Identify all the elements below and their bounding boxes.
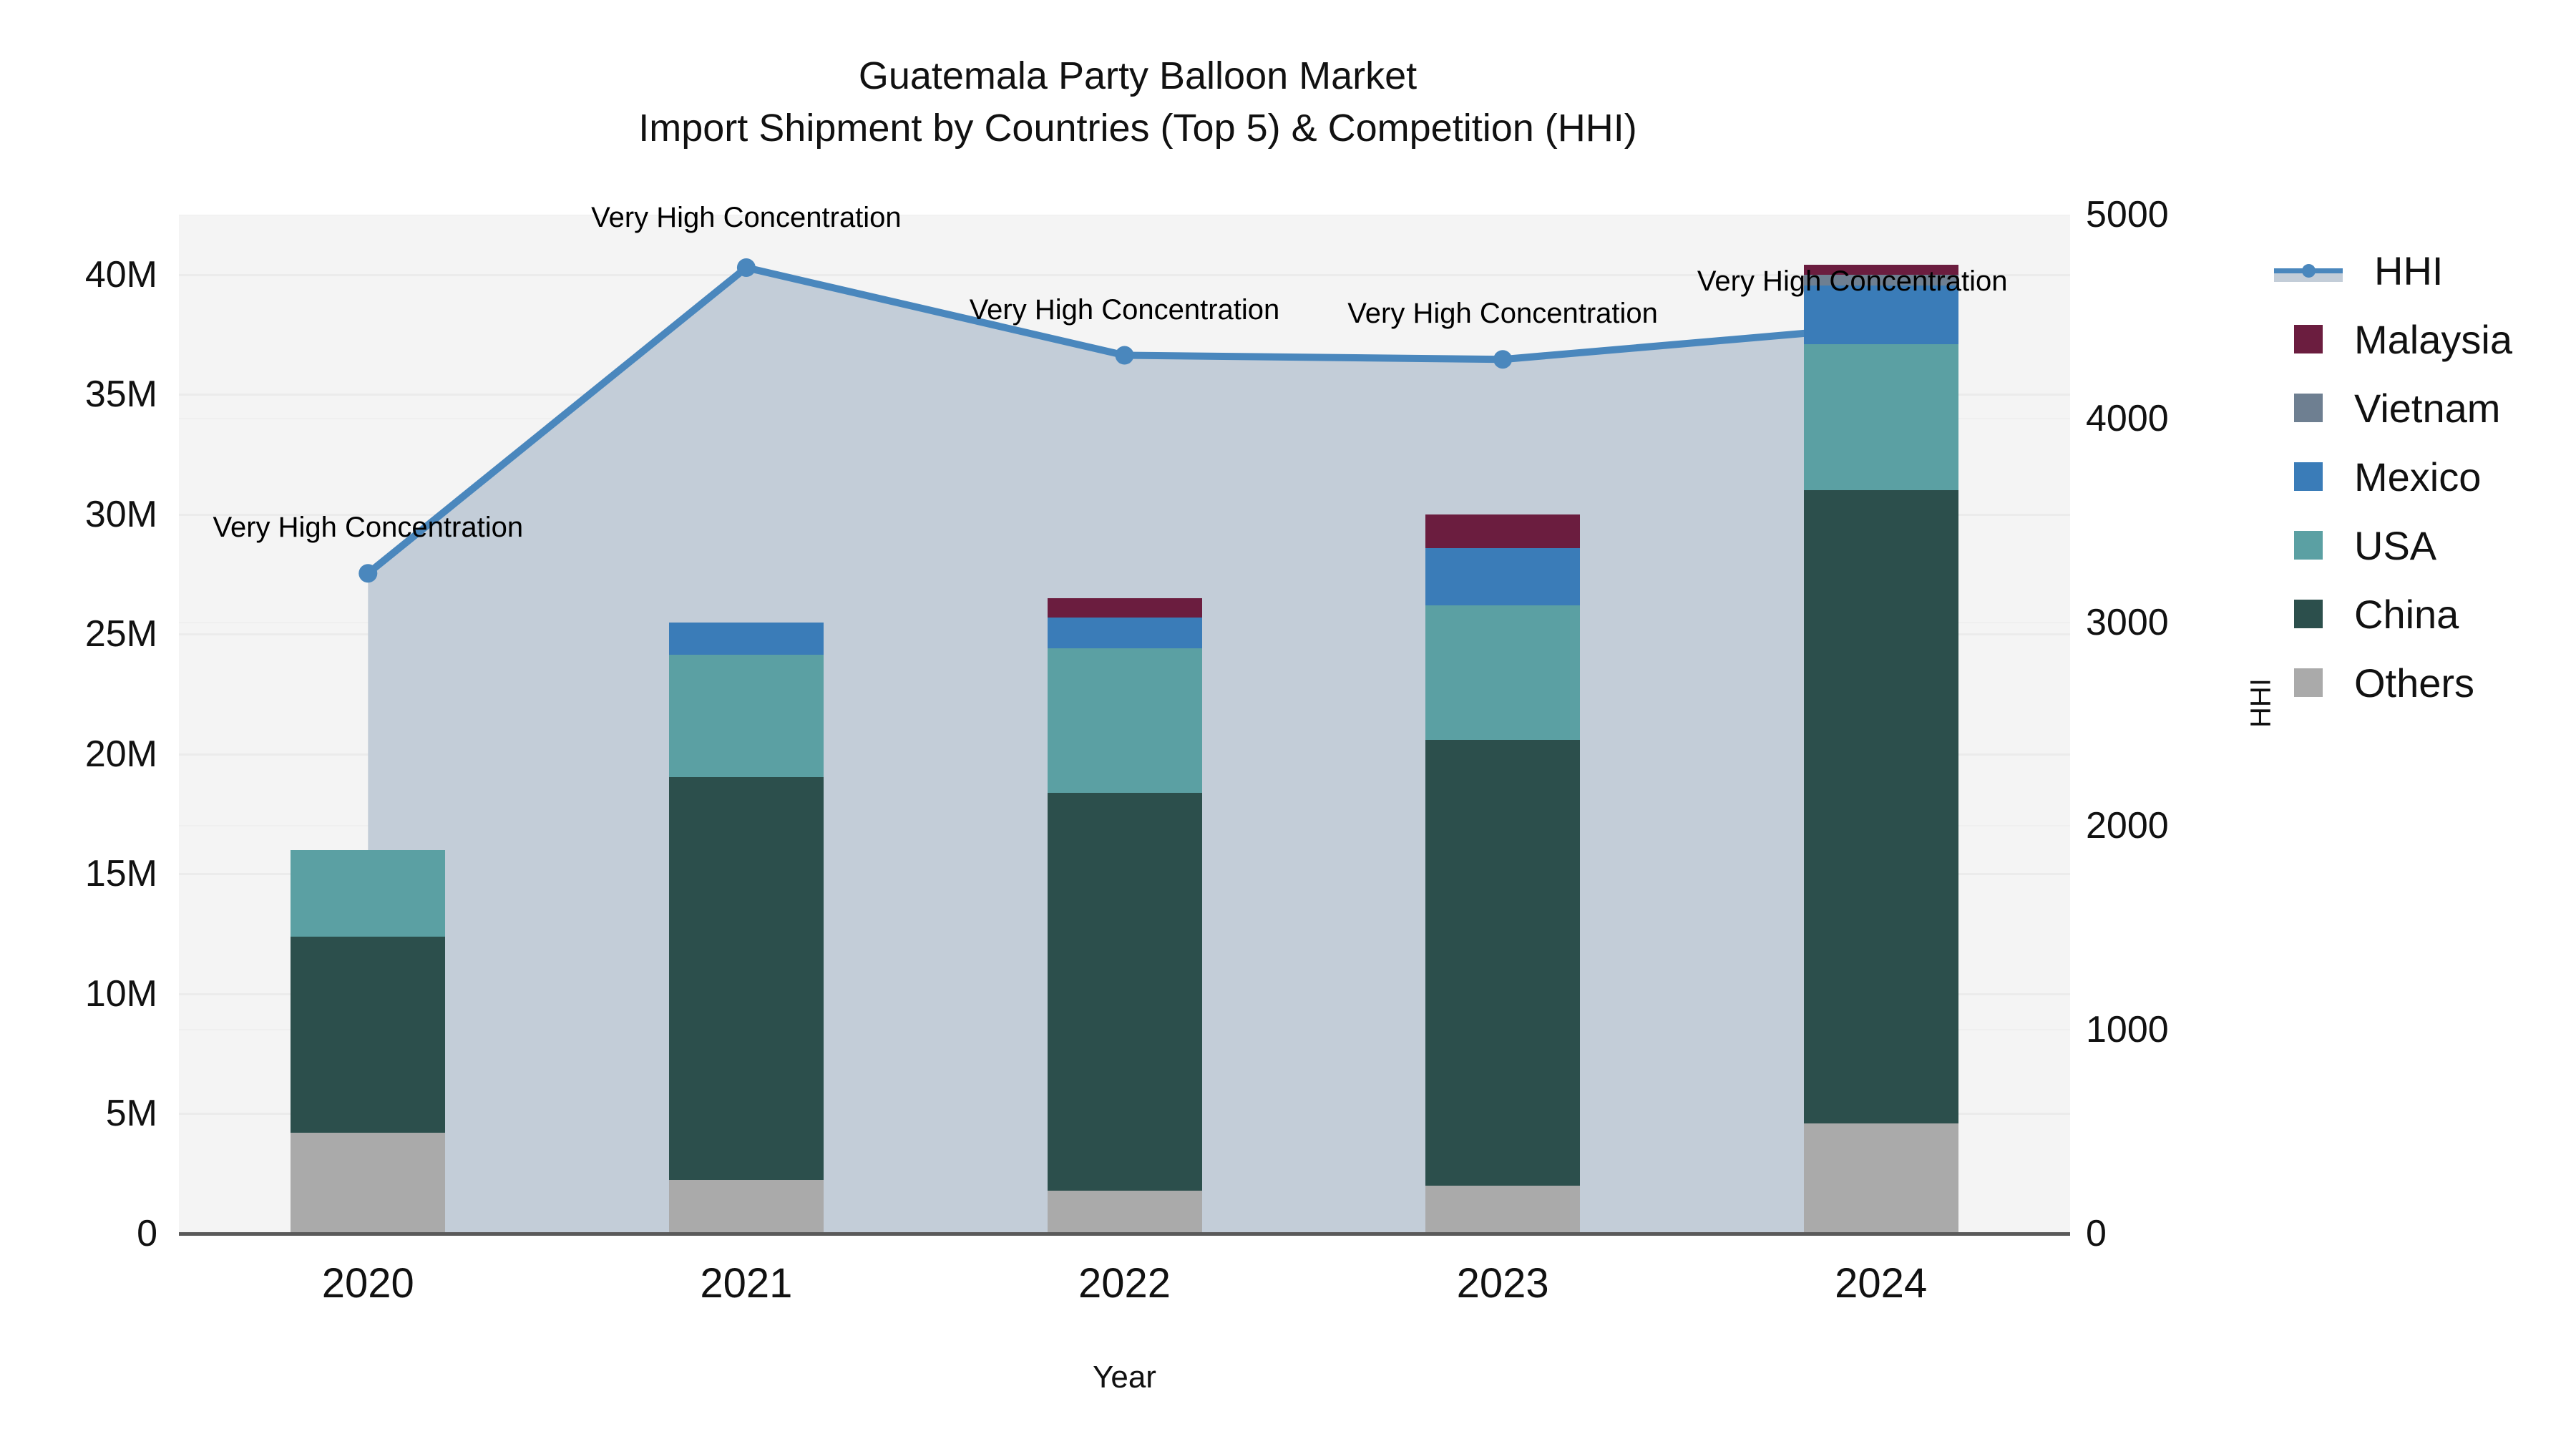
- x-axis-line: [179, 1232, 2070, 1236]
- bar-segment[interactable]: [291, 1133, 445, 1234]
- y-axis-tick-left: 5M: [14, 1092, 157, 1135]
- y-axis-tick-left: 25M: [14, 613, 157, 655]
- bar-segment[interactable]: [1048, 648, 1202, 792]
- legend-item[interactable]: Mexico: [2254, 442, 2512, 511]
- legend-item[interactable]: Others: [2254, 648, 2512, 717]
- x-axis-tick: 2022: [975, 1259, 1275, 1307]
- bar-segment[interactable]: [669, 623, 824, 655]
- y-axis-tick-right: 5000: [2086, 193, 2272, 236]
- bar-stack[interactable]: [1804, 215, 1958, 1234]
- bar-segment[interactable]: [1048, 1191, 1202, 1234]
- x-axis-tick: 2021: [596, 1259, 897, 1307]
- y-axis-tick-right: 1000: [2086, 1008, 2272, 1051]
- legend-color-swatch: [2294, 325, 2323, 353]
- chart-title-block: Guatemala Party Balloon Market Import Sh…: [0, 50, 2275, 155]
- legend-color-swatch: [2294, 462, 2323, 491]
- bar-stack[interactable]: [291, 215, 445, 1234]
- bar-segment[interactable]: [1048, 598, 1202, 618]
- legend-color-swatch: [2294, 668, 2323, 697]
- bar-segment[interactable]: [1804, 490, 1958, 1123]
- bar-segment[interactable]: [669, 655, 824, 777]
- bar-segment[interactable]: [1425, 548, 1580, 605]
- bar-segment[interactable]: [1425, 514, 1580, 548]
- y-axis-tick-right: 3000: [2086, 601, 2272, 644]
- legend-item-label: USA: [2354, 522, 2436, 569]
- x-axis-tick: 2023: [1352, 1259, 1653, 1307]
- legend: HHIMalaysiaVietnamMexicoUSAChinaOthers: [2254, 236, 2512, 717]
- y-axis-tick-right: 2000: [2086, 804, 2272, 847]
- bar-segment[interactable]: [669, 1180, 824, 1234]
- y-axis-tick-left: 0: [14, 1212, 157, 1255]
- legend-color-swatch: [2294, 600, 2323, 628]
- legend-item[interactable]: Vietnam: [2254, 374, 2512, 442]
- bar-segment[interactable]: [1425, 740, 1580, 1186]
- bar-segment[interactable]: [291, 850, 445, 937]
- bar-segment[interactable]: [291, 937, 445, 1133]
- plot-inner: [179, 215, 2070, 1234]
- legend-line-icon: [2274, 256, 2343, 285]
- bar-stack[interactable]: [1048, 215, 1202, 1234]
- y-axis-tick-left: 35M: [14, 373, 157, 416]
- bar-segment[interactable]: [1048, 618, 1202, 649]
- bar-segment[interactable]: [1804, 1123, 1958, 1234]
- bar-segment[interactable]: [1425, 1186, 1580, 1234]
- legend-marker-dot: [2302, 264, 2316, 278]
- bar-segment[interactable]: [1804, 344, 1958, 490]
- annotation-label: Very High Concentration: [591, 202, 902, 234]
- legend-item-label: Malaysia: [2354, 316, 2512, 363]
- plot-area: [179, 215, 2070, 1234]
- x-axis-tick: 2024: [1731, 1259, 2031, 1307]
- x-axis-tick: 2020: [218, 1259, 518, 1307]
- legend-item[interactable]: HHI: [2254, 236, 2512, 305]
- legend-item-label: Others: [2354, 660, 2474, 706]
- annotation-label: Very High Concentration: [970, 294, 1280, 326]
- annotation-label: Very High Concentration: [1697, 265, 2008, 298]
- legend-item-label: China: [2354, 591, 2459, 638]
- y-axis-tick-left: 40M: [14, 253, 157, 296]
- bar-segment[interactable]: [1425, 605, 1580, 740]
- y-axis-tick-left: 10M: [14, 972, 157, 1015]
- y-axis-tick-left: 15M: [14, 852, 157, 895]
- bar-segment[interactable]: [1048, 793, 1202, 1191]
- legend-color-swatch: [2294, 531, 2323, 560]
- legend-item-label: Mexico: [2354, 454, 2481, 500]
- legend-item[interactable]: USA: [2254, 511, 2512, 580]
- y-axis-tick-right: 0: [2086, 1212, 2272, 1255]
- legend-item[interactable]: Malaysia: [2254, 305, 2512, 374]
- annotation-label: Very High Concentration: [1347, 298, 1658, 330]
- legend-item-label: Vietnam: [2354, 385, 2500, 431]
- bar-segment[interactable]: [669, 777, 824, 1180]
- y-axis-tick-right: 4000: [2086, 397, 2272, 440]
- legend-item[interactable]: China: [2254, 580, 2512, 648]
- bar-stack[interactable]: [669, 215, 824, 1234]
- y-axis-tick-left: 30M: [14, 493, 157, 536]
- page-title: Guatemala Party Balloon Market: [0, 50, 2275, 102]
- y-axis-tick-left: 20M: [14, 733, 157, 776]
- chart-subtitle: Import Shipment by Countries (Top 5) & C…: [0, 102, 2275, 155]
- bar-stack[interactable]: [1425, 215, 1580, 1234]
- legend-item-label: HHI: [2374, 248, 2443, 294]
- annotation-label: Very High Concentration: [213, 512, 524, 544]
- chart-page: Guatemala Party Balloon Market Import Sh…: [0, 0, 2576, 1449]
- x-axis-label: Year: [179, 1360, 2070, 1395]
- legend-color-swatch: [2294, 394, 2323, 422]
